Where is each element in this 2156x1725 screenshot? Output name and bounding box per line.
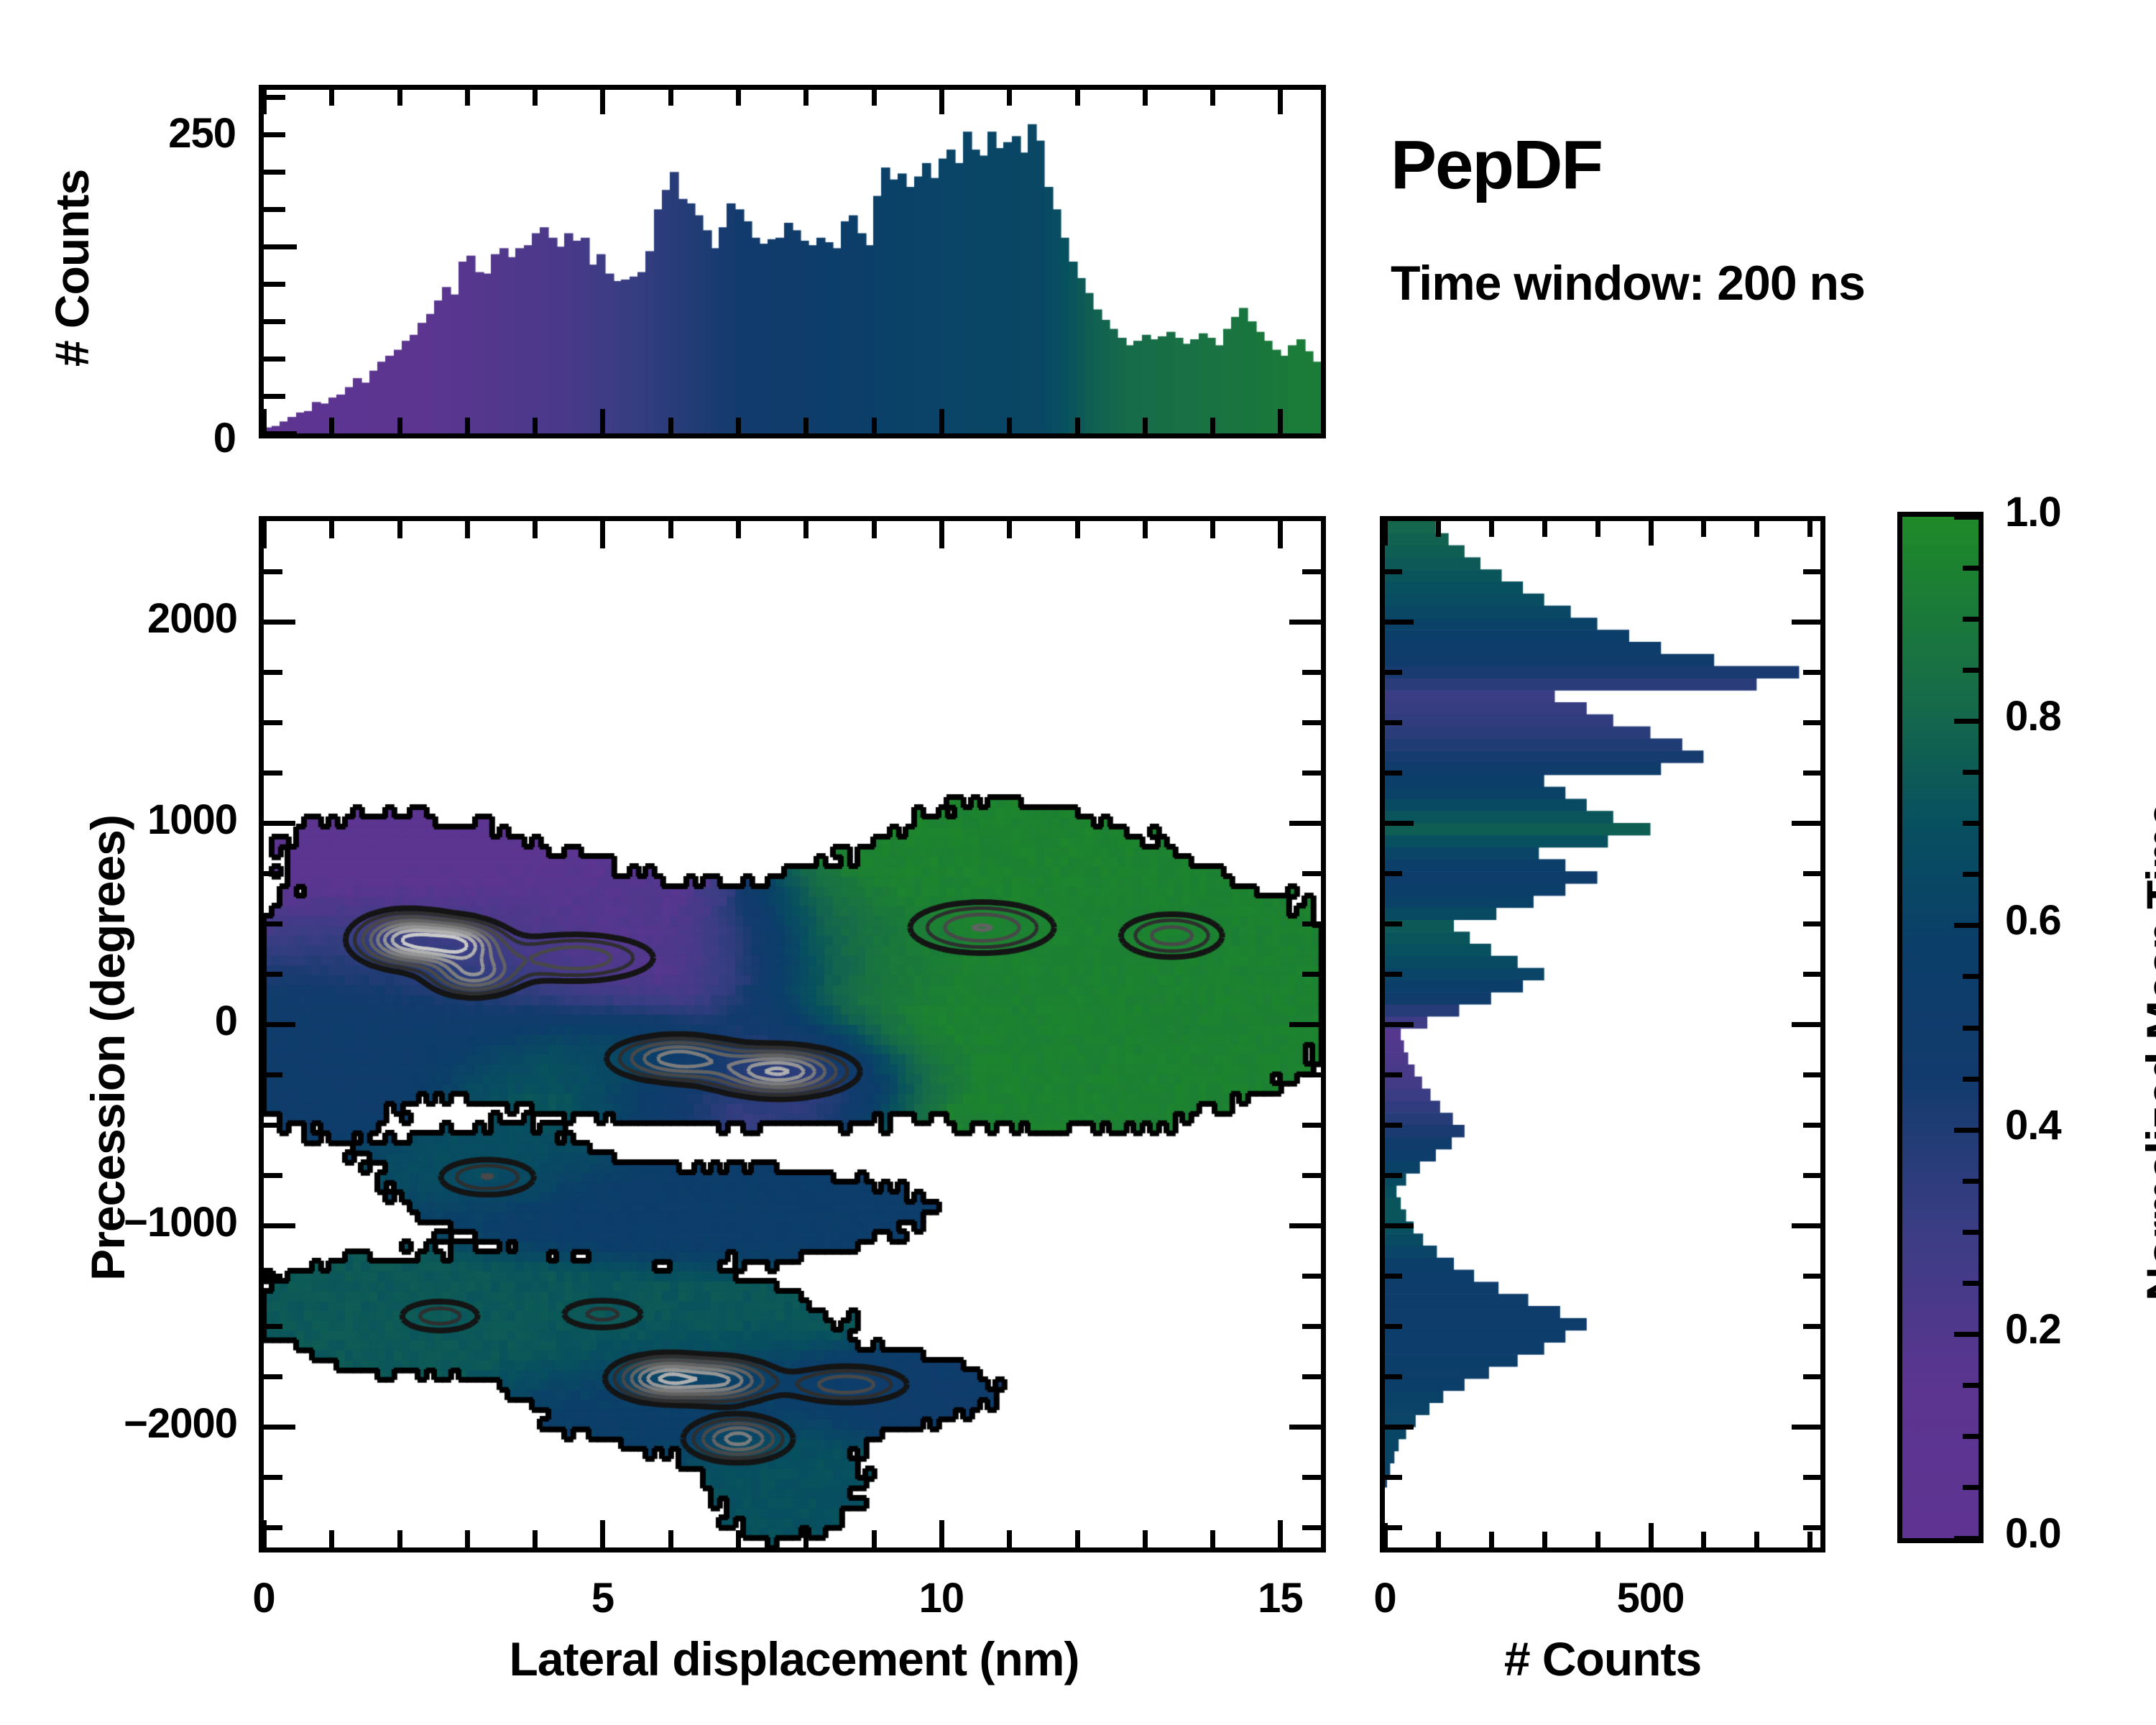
axis-tick xyxy=(1278,521,1283,548)
side-xlabel: # Counts xyxy=(1409,1632,1797,1686)
axis-tick xyxy=(264,244,297,249)
axis-tick xyxy=(264,319,285,324)
axis-tick xyxy=(1385,821,1414,826)
axis-tick xyxy=(1385,1374,1402,1379)
axis-tick-label: 0.6 xyxy=(2005,896,2156,944)
axis-tick xyxy=(803,521,808,538)
axis-tick xyxy=(668,90,673,106)
axis-tick xyxy=(1792,1223,1820,1228)
axis-tick xyxy=(600,521,605,548)
axis-tick xyxy=(1385,1072,1402,1077)
axis-tick xyxy=(1075,521,1080,538)
axis-tick xyxy=(1289,821,1321,826)
axis-tick-label: −2000 xyxy=(22,1399,237,1448)
axis-tick xyxy=(264,356,285,362)
axis-tick xyxy=(264,1274,282,1279)
axis-tick xyxy=(264,770,282,776)
axis-tick xyxy=(1803,1525,1820,1530)
axis-tick xyxy=(264,871,282,876)
axis-tick xyxy=(1385,1475,1402,1480)
axis-tick xyxy=(264,431,297,436)
axis-tick xyxy=(1302,720,1321,725)
side-histogram-canvas xyxy=(1385,521,1820,1547)
axis-tick xyxy=(1385,720,1402,725)
axis-tick xyxy=(1963,821,1978,826)
axis-tick xyxy=(264,1374,282,1379)
axis-tick xyxy=(1289,1223,1321,1228)
axis-tick xyxy=(329,418,334,433)
axis-tick xyxy=(1803,1374,1820,1379)
colorbar-label: Normalized Mean Time xyxy=(2136,778,2156,1325)
axis-tick xyxy=(1210,1530,1215,1547)
axis-tick xyxy=(1385,1123,1402,1128)
axis-tick xyxy=(1701,521,1706,537)
figure-title: PepDF xyxy=(1391,126,1602,205)
axis-tick xyxy=(1383,521,1388,546)
axis-tick-label: 0.8 xyxy=(2005,692,2156,740)
axis-tick xyxy=(1803,1274,1820,1279)
axis-tick xyxy=(1143,418,1148,433)
axis-tick xyxy=(1385,1223,1414,1228)
axis-tick xyxy=(1803,770,1820,776)
axis-tick xyxy=(262,409,267,433)
axis-tick xyxy=(1007,1530,1012,1547)
axis-tick xyxy=(1385,670,1402,675)
axis-tick xyxy=(872,418,877,433)
axis-tick xyxy=(264,207,285,212)
axis-tick xyxy=(264,569,282,574)
axis-tick xyxy=(264,394,285,399)
axis-tick xyxy=(264,1324,282,1329)
axis-tick xyxy=(736,521,741,538)
axis-tick xyxy=(465,1530,470,1547)
axis-tick xyxy=(803,418,808,433)
axis-tick xyxy=(264,821,295,826)
axis-tick xyxy=(1385,1173,1402,1178)
top-ytick-label-250: 250 xyxy=(121,109,236,157)
axis-tick xyxy=(533,418,538,433)
axis-tick xyxy=(1963,1077,1978,1082)
axis-tick xyxy=(1385,1525,1402,1530)
axis-tick xyxy=(533,1530,538,1547)
axis-tick xyxy=(1385,1324,1402,1329)
top-histogram-canvas xyxy=(264,90,1321,433)
axis-tick xyxy=(1385,569,1402,574)
top-histogram-ylabel: # Counts xyxy=(45,153,99,383)
axis-tick xyxy=(1963,668,1978,673)
axis-tick xyxy=(397,1530,402,1547)
main-xlabel: Lateral displacement (nm) xyxy=(474,1632,1114,1686)
axis-tick xyxy=(1954,1332,1978,1337)
axis-tick xyxy=(668,1530,673,1547)
axis-tick xyxy=(1963,566,1978,571)
axis-tick xyxy=(1385,871,1402,876)
axis-tick xyxy=(872,1530,877,1547)
axis-tick xyxy=(736,418,741,433)
axis-tick xyxy=(1792,620,1820,625)
figure-subtitle: Time window: 200 ns xyxy=(1391,255,1865,311)
axis-tick xyxy=(397,521,402,538)
axis-tick xyxy=(1385,770,1402,776)
axis-tick xyxy=(1542,1532,1547,1547)
axis-tick xyxy=(1210,418,1215,433)
axis-tick xyxy=(1143,1530,1148,1547)
axis-tick xyxy=(262,521,267,548)
axis-tick xyxy=(1803,871,1820,876)
axis-tick xyxy=(1963,974,1978,979)
axis-tick xyxy=(1436,521,1441,537)
axis-tick xyxy=(465,90,470,106)
axis-tick xyxy=(264,670,282,675)
axis-tick xyxy=(1954,1536,1978,1541)
axis-tick xyxy=(1807,1532,1812,1547)
axis-tick xyxy=(1302,1525,1321,1530)
axis-tick xyxy=(939,90,944,114)
axis-tick xyxy=(1302,1324,1321,1329)
axis-tick xyxy=(264,1123,282,1128)
axis-tick xyxy=(1302,569,1321,574)
axis-tick xyxy=(1754,521,1759,537)
main-ylabel: Precession (degrees) xyxy=(80,775,135,1321)
axis-tick xyxy=(1143,90,1148,106)
axis-tick xyxy=(1385,1022,1414,1027)
axis-tick xyxy=(1963,770,1978,775)
axis-tick xyxy=(264,972,282,977)
axis-tick xyxy=(262,1520,267,1547)
axis-tick xyxy=(1963,872,1978,877)
main-heatmap-panel xyxy=(259,516,1326,1552)
axis-tick xyxy=(1542,521,1547,537)
axis-tick-label: 0 xyxy=(185,1574,343,1622)
axis-tick xyxy=(736,90,741,106)
axis-tick-label: 500 xyxy=(1572,1574,1730,1622)
axis-tick xyxy=(264,1525,282,1530)
axis-tick-label: 1.0 xyxy=(2005,488,2156,536)
axis-tick xyxy=(1143,521,1148,538)
axis-tick xyxy=(1803,569,1820,574)
axis-tick xyxy=(1595,1532,1600,1547)
axis-tick xyxy=(264,132,285,137)
axis-tick xyxy=(264,1173,282,1178)
axis-tick xyxy=(939,409,944,433)
axis-tick xyxy=(668,418,673,433)
axis-tick xyxy=(600,90,605,114)
axis-tick-label: 10 xyxy=(862,1574,1021,1622)
axis-tick xyxy=(1954,515,1978,520)
axis-tick xyxy=(1792,1022,1820,1027)
axis-tick xyxy=(1701,1532,1706,1547)
axis-tick xyxy=(668,521,673,538)
axis-tick xyxy=(872,521,877,538)
axis-tick xyxy=(1803,1072,1820,1077)
axis-tick xyxy=(1385,972,1402,977)
axis-tick xyxy=(1302,1374,1321,1379)
axis-tick xyxy=(1807,521,1812,537)
axis-tick xyxy=(1754,1532,1759,1547)
axis-tick xyxy=(533,90,538,106)
axis-tick xyxy=(1302,770,1321,776)
axis-tick xyxy=(1963,1485,1978,1490)
top-histogram-panel xyxy=(259,85,1326,438)
axis-tick xyxy=(1792,1425,1820,1430)
axis-tick xyxy=(1302,1072,1321,1077)
axis-tick-label: 0.2 xyxy=(2005,1305,2156,1353)
axis-tick xyxy=(329,1530,334,1547)
top-ytick-label-0: 0 xyxy=(193,414,236,462)
axis-tick xyxy=(1963,617,1978,622)
axis-tick xyxy=(329,521,334,538)
axis-tick xyxy=(1007,90,1012,106)
axis-tick xyxy=(1489,1532,1494,1547)
axis-tick-label: 5 xyxy=(523,1574,681,1622)
axis-tick xyxy=(264,921,282,926)
axis-tick xyxy=(1963,1434,1978,1439)
axis-tick xyxy=(1954,1128,1978,1133)
axis-tick xyxy=(1385,620,1414,625)
figure-root: 0 250 # Counts PepDF Time window: 200 ns… xyxy=(0,0,2156,1725)
axis-tick xyxy=(1385,1425,1414,1430)
axis-tick xyxy=(1803,1324,1820,1329)
axis-tick xyxy=(1803,1475,1820,1480)
axis-tick xyxy=(1302,871,1321,876)
axis-tick xyxy=(1954,719,1978,724)
axis-tick xyxy=(264,95,285,100)
axis-tick xyxy=(264,1475,282,1480)
axis-tick xyxy=(264,620,295,625)
axis-tick xyxy=(1803,972,1820,977)
axis-tick xyxy=(1792,821,1820,826)
axis-tick xyxy=(1302,921,1321,926)
axis-tick xyxy=(1385,1274,1402,1279)
axis-tick xyxy=(1289,1425,1321,1430)
axis-tick-label: 0.4 xyxy=(2005,1101,2156,1149)
axis-tick xyxy=(1803,1173,1820,1178)
axis-tick xyxy=(803,1530,808,1547)
axis-tick xyxy=(264,720,282,725)
axis-tick xyxy=(1385,921,1402,926)
axis-tick xyxy=(1302,1475,1321,1480)
side-histogram-panel xyxy=(1380,516,1825,1552)
axis-tick xyxy=(1649,1523,1654,1547)
main-heatmap-canvas xyxy=(264,521,1321,1547)
axis-tick xyxy=(1954,923,1978,928)
axis-tick xyxy=(533,521,538,538)
axis-tick xyxy=(465,521,470,538)
axis-tick xyxy=(1075,1530,1080,1547)
axis-tick xyxy=(1278,90,1283,114)
axis-tick xyxy=(872,90,877,106)
axis-tick xyxy=(264,1223,295,1228)
axis-tick xyxy=(736,1530,741,1547)
axis-tick-label: 2000 xyxy=(22,594,237,643)
axis-tick xyxy=(465,418,470,433)
axis-tick xyxy=(1278,409,1283,433)
axis-tick xyxy=(1075,418,1080,433)
axis-tick xyxy=(600,1520,605,1547)
axis-tick xyxy=(1210,90,1215,106)
axis-tick xyxy=(1007,521,1012,538)
axis-tick xyxy=(1289,620,1321,625)
axis-tick xyxy=(264,282,285,287)
axis-tick xyxy=(1963,1026,1978,1031)
axis-tick xyxy=(1963,1281,1978,1286)
axis-tick xyxy=(1302,1173,1321,1178)
axis-tick-label: 0 xyxy=(1335,1574,1435,1622)
axis-tick xyxy=(1302,972,1321,977)
axis-tick xyxy=(1803,720,1820,725)
axis-tick xyxy=(1075,90,1080,106)
axis-tick xyxy=(1803,1123,1820,1128)
axis-tick xyxy=(1302,1123,1321,1128)
axis-tick xyxy=(1007,418,1012,433)
axis-tick xyxy=(397,418,402,433)
axis-tick xyxy=(1302,670,1321,675)
axis-tick xyxy=(1302,1274,1321,1279)
axis-tick xyxy=(329,90,334,106)
axis-tick xyxy=(1278,1520,1283,1547)
axis-tick xyxy=(803,90,808,106)
axis-tick xyxy=(939,521,944,548)
axis-tick xyxy=(1210,521,1215,538)
axis-tick xyxy=(264,1425,295,1430)
axis-tick xyxy=(262,90,267,114)
axis-tick xyxy=(939,1520,944,1547)
axis-tick xyxy=(1963,1230,1978,1235)
axis-tick xyxy=(1803,670,1820,675)
axis-tick xyxy=(264,170,285,175)
axis-tick xyxy=(1489,521,1494,537)
axis-tick xyxy=(264,1022,295,1027)
axis-tick xyxy=(264,1072,282,1077)
axis-tick-label: 0.0 xyxy=(2005,1509,2156,1558)
axis-tick xyxy=(1963,1383,1978,1388)
axis-tick xyxy=(1436,1532,1441,1547)
axis-tick xyxy=(1803,921,1820,926)
axis-tick xyxy=(1649,521,1654,546)
axis-tick xyxy=(1595,521,1600,537)
axis-tick xyxy=(1289,1022,1321,1027)
axis-tick xyxy=(1963,1179,1978,1184)
axis-tick xyxy=(397,90,402,106)
axis-tick xyxy=(600,409,605,433)
